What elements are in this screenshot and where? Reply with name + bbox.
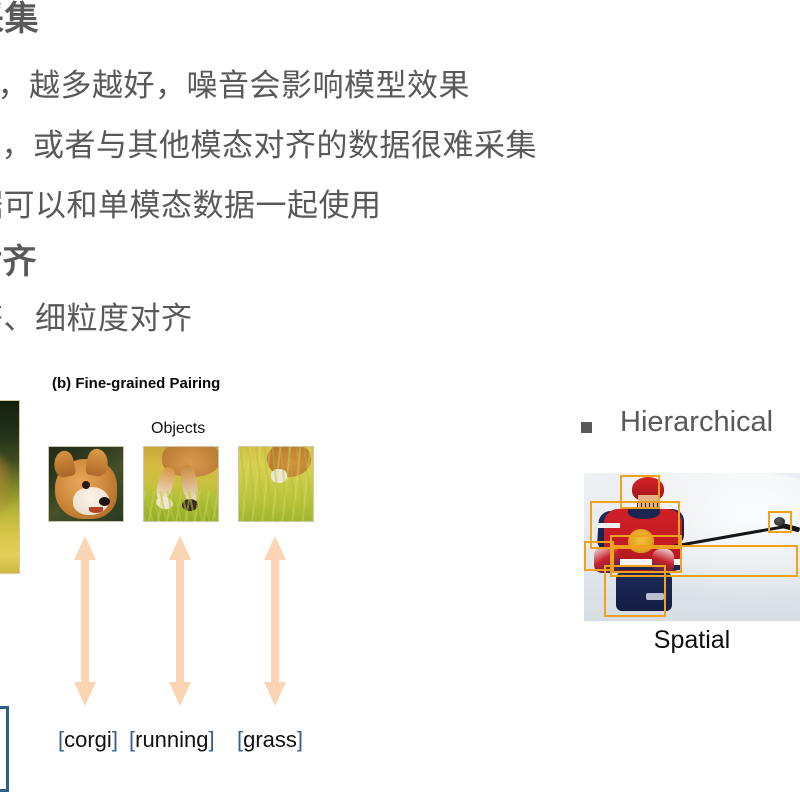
spatial-caption: Spatial [584,626,800,655]
token-running-word: running [135,727,208,752]
slide-bullet-unimodal: 据可以和单模态数据一起使用 [0,190,382,221]
corgi-eye-shape [82,481,90,489]
alignment-arrow-running [167,536,193,706]
objects-label: Objects [151,420,205,438]
legs-box [604,565,666,617]
hierarchical-label: Hierarchical [620,406,773,439]
slide-bullet-quality: 净，越多越好，噪音会影响模型效果 [0,70,470,101]
alignment-arrow-grass [262,536,288,706]
corgi-mouth-shape [89,507,103,513]
slide-heading-alignment: 对齐 [0,245,37,279]
corgi-face-thumbnail [48,446,124,522]
token-running: [running] [129,727,215,753]
corgi-left-ear-shape [52,449,77,479]
text-bracket-coarse [0,706,9,792]
bracket-close-icon: ] [297,727,303,752]
bracket-close-icon: ] [112,727,118,752]
coarse-pairing-photo [0,400,20,574]
corgi-nose-shape [99,497,110,506]
grass-thumbnail-image [239,447,313,521]
slide-bullet-modality: 态，或者与其他模态对齐的数据很难采集 [0,130,537,161]
slide-heading-collection: 采集 [0,2,39,36]
token-corgi: [corgi] [58,727,118,753]
alignment-arrow-corgi [72,536,98,706]
figure-caption-fine-grained-pairing: (b) Fine-grained Pairing [52,375,220,392]
puck-box [768,511,792,533]
running-legs-thumbnail [143,446,219,522]
grass-texture [239,447,313,521]
token-corgi-word: corgi [64,727,112,752]
corgi-thumbnail-image [49,447,123,521]
bracket-close-icon: ] [209,727,215,752]
running-thumbnail-image [144,447,218,521]
grass-blades-texture [144,491,218,521]
square-bullet-icon [581,422,592,433]
token-grass-word: grass [243,727,297,752]
grass-thumbnail [238,446,314,522]
hockey-player-image [584,473,800,621]
slide-bullet-granularity: 齐、细粒度对齐 [0,303,193,334]
token-grass: [grass] [237,727,303,753]
